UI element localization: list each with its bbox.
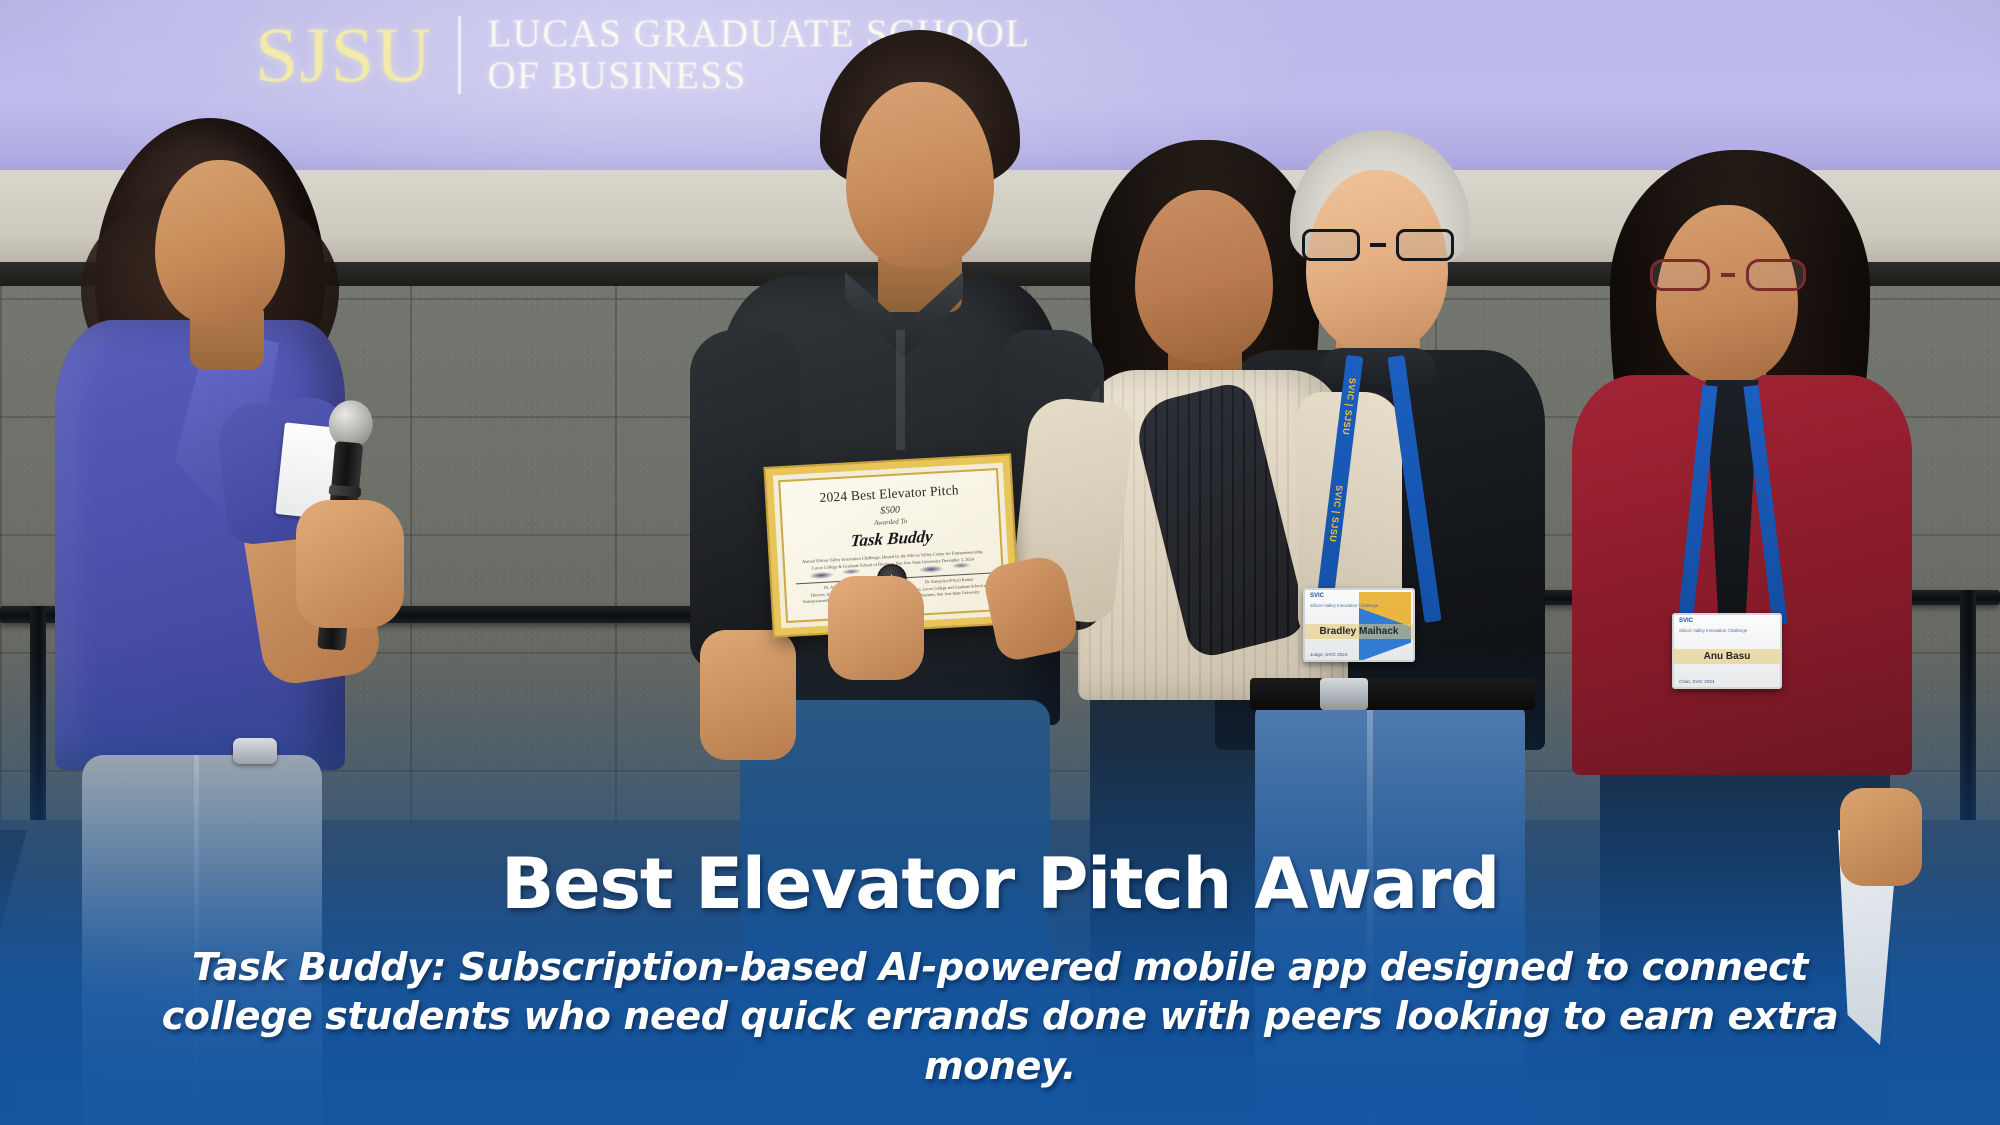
sjsu-wordmark: SJSU bbox=[255, 18, 432, 92]
polo-placket bbox=[896, 330, 905, 450]
caption-block: Best Elevator Pitch Award Task Buddy: Su… bbox=[0, 849, 2000, 1091]
eyeglasses-icon bbox=[1650, 258, 1806, 292]
logo-divider bbox=[458, 16, 461, 94]
eyeglasses-icon bbox=[1302, 228, 1454, 262]
badge-org: SVIC bbox=[1310, 593, 1324, 599]
badge-role: Chair, SVIC 2024 bbox=[1679, 679, 1715, 684]
glasses-bridge bbox=[1721, 273, 1735, 277]
certificate-recipient: Task Buddy bbox=[850, 527, 934, 552]
award-title: Best Elevator Pitch Award bbox=[0, 849, 2000, 920]
certificate-heading: 2024 Best Elevator Pitch bbox=[819, 482, 959, 506]
lens-right bbox=[1396, 229, 1454, 261]
face bbox=[846, 82, 994, 268]
hand-holding-microphone bbox=[296, 500, 404, 628]
turtleneck-collar bbox=[1320, 348, 1436, 392]
lens-left bbox=[1650, 259, 1710, 291]
name-badge-dean: SVIC Silicon Valley Innovation Challenge… bbox=[1672, 613, 1782, 689]
belt-buckle bbox=[1320, 678, 1368, 710]
face bbox=[1135, 190, 1273, 362]
certificate-awarded-to-label: Awarded To bbox=[874, 517, 908, 527]
name-badge-judge: SVIC Silicon Valley Innovation Challenge… bbox=[1303, 588, 1415, 662]
face bbox=[1656, 205, 1798, 383]
award-subtitle: Task Buddy: Subscription-based AI-powere… bbox=[150, 943, 1850, 1091]
leather-belt bbox=[1250, 678, 1535, 710]
badge-name: Anu Basu bbox=[1674, 649, 1780, 664]
certificate-amount: $500 bbox=[880, 505, 901, 517]
left-forearm bbox=[700, 630, 796, 760]
face bbox=[155, 160, 285, 325]
lens-left bbox=[1302, 229, 1360, 261]
award-photo-slide: SJSU LUCAS GRADUATE SCHOOL OF BUSINESS bbox=[0, 0, 2000, 1125]
wristwatch bbox=[233, 738, 277, 764]
hand-holding-certificate bbox=[828, 576, 924, 680]
badge-name: Bradley Maihack bbox=[1305, 624, 1413, 639]
glasses-bridge bbox=[1370, 243, 1386, 247]
lens-right bbox=[1746, 259, 1806, 291]
badge-subtitle: Silicon Valley Innovation Challenge bbox=[1310, 603, 1378, 610]
badge-subtitle: Silicon Valley Innovation Challenge bbox=[1679, 628, 1747, 635]
badge-role: Judge, SVIC 2024 bbox=[1310, 652, 1347, 657]
badge-org: SVIC bbox=[1679, 618, 1693, 624]
